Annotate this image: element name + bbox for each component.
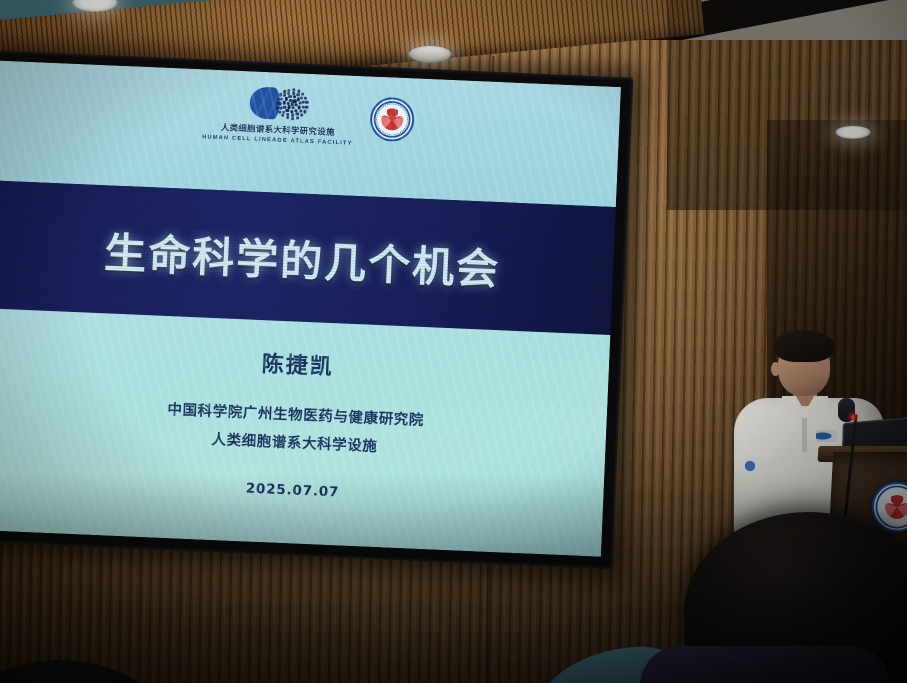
slide-logo-lockup: 人类细胞谱系大科学研究设施 HUMAN CELL LINEAGE ATLAS F… (202, 83, 415, 148)
institute-seal-icon (369, 97, 415, 143)
downlight-icon-2 (408, 46, 452, 63)
shirt-chest-logo-icon (816, 430, 838, 442)
slide-surface: 人类细胞谱系大科学研究设施 HUMAN CELL LINEAGE ATLAS F… (0, 61, 621, 557)
speaker-hair (774, 330, 834, 362)
audience-shoulder-foreground (640, 646, 890, 683)
screen-bezel: 人类细胞谱系大科学研究设施 HUMAN CELL LINEAGE ATLAS F… (0, 50, 633, 569)
cell-lineage-logo-icon (247, 85, 310, 122)
hcla-logo-group: 人类细胞谱系大科学研究设施 HUMAN CELL LINEAGE ATLAS F… (202, 83, 355, 146)
downlight-icon-3 (835, 126, 871, 139)
shirt-sleeve-logo-icon (742, 458, 758, 474)
speaker-ear (771, 362, 780, 376)
presenter-name: 陈捷凯 (0, 334, 609, 393)
slide-title-band: 生命科学的几个机会 (0, 180, 616, 334)
speaker-shirt-placket (802, 418, 807, 452)
seal-ring (375, 103, 408, 136)
projection-screen: 人类细胞谱系大科学研究设施 HUMAN CELL LINEAGE ATLAS F… (0, 50, 633, 569)
talk-date: 2025.07.07 (0, 469, 604, 512)
logo-dot-cluster-icon (273, 86, 310, 122)
slide-title: 生命科学的几个机会 (103, 219, 501, 297)
slide-info-block: 陈捷凯 中国科学院广州生物医药与健康研究院 人类细胞谱系大科学设施 2025.0… (0, 334, 609, 511)
slide-info-band: 陈捷凯 中国科学院广州生物医药与健康研究院 人类细胞谱系大科学设施 2025.0… (0, 308, 610, 556)
lecture-hall-photo: 人类细胞谱系大科学研究设施 HUMAN CELL LINEAGE ATLAS F… (0, 0, 907, 683)
ceiling-right-shadow (667, 0, 907, 210)
microphone-led-indicator (851, 415, 855, 419)
